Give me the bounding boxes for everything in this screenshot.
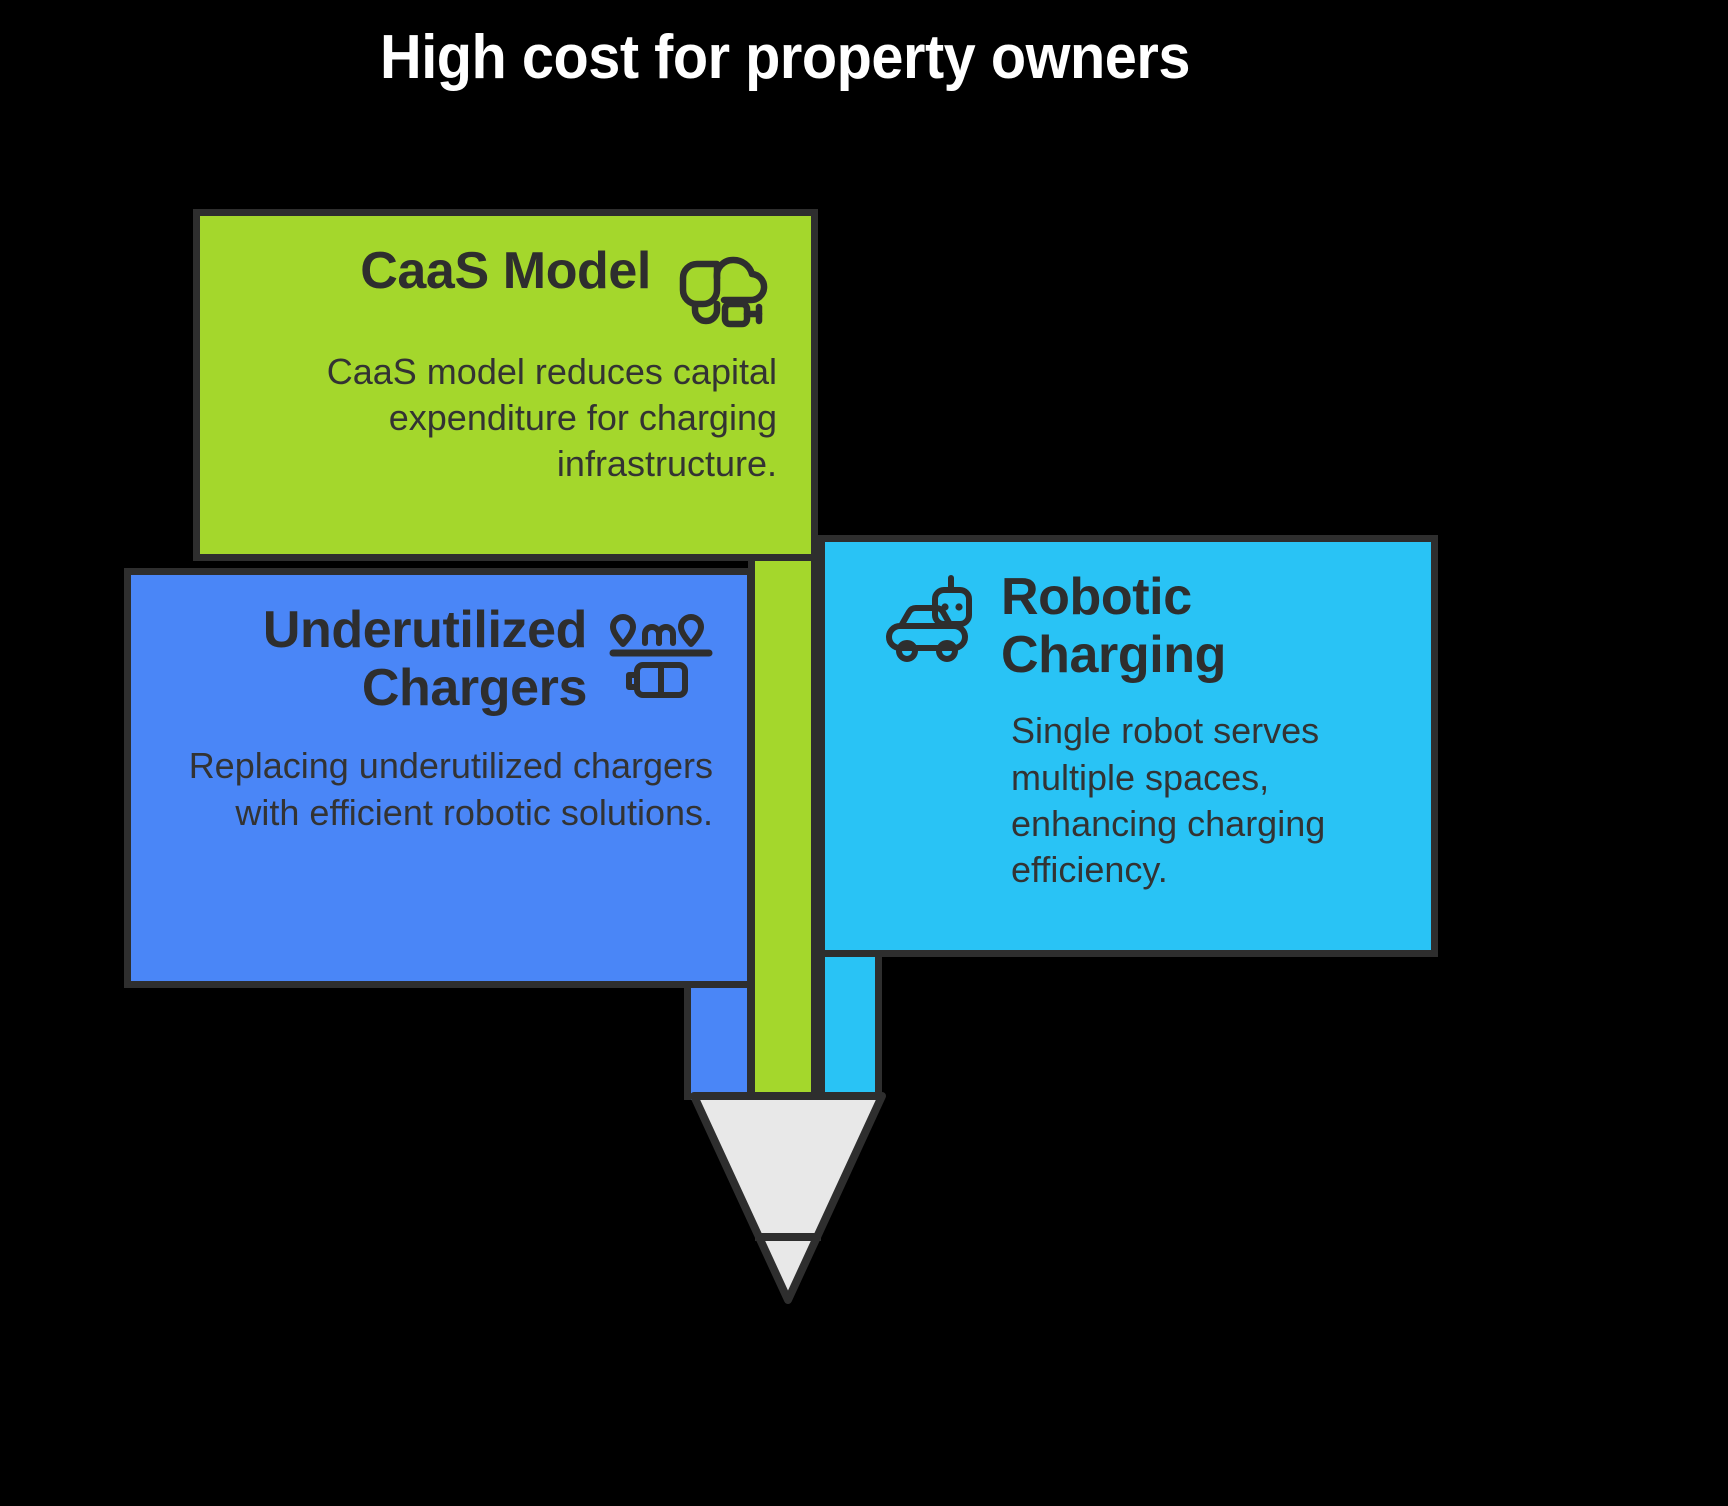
card-header-underutilized-chargers: Underutilized Chargers [165, 601, 713, 717]
card-header-caas-model: CaaS Model [234, 242, 777, 333]
funnel-tip [755, 1232, 821, 1310]
card-robotic-charging[interactable]: Robotic Charging Single robot serves mul… [818, 535, 1438, 957]
stem-underutilized-chargers [684, 975, 754, 1100]
cloud-plug-icon [673, 242, 777, 333]
card-title-caas-model: CaaS Model [360, 242, 651, 300]
robot-car-icon [883, 574, 979, 671]
card-caas-model[interactable]: CaaS Model CaaS model reduces capital ex… [193, 209, 818, 561]
card-underutilized-chargers[interactable]: Underutilized Chargers [124, 568, 754, 988]
stem-caas-model [748, 520, 818, 1100]
parking-charger-icon [609, 609, 713, 706]
card-body-robotic-charging: Single robot serves multiple spaces, enh… [859, 708, 1397, 892]
card-title-underutilized-chargers: Underutilized Chargers [217, 601, 587, 717]
card-body-underutilized-chargers: Replacing underutilized chargers with ef… [165, 743, 713, 835]
stem-robotic-charging [818, 950, 882, 1100]
infographic-canvas: High cost for property owners CaaS Model [0, 0, 1728, 1506]
card-title-robotic-charging: Robotic Charging [1001, 568, 1271, 684]
page-title: High cost for property owners [55, 22, 1515, 93]
card-body-caas-model: CaaS model reduces capital expenditure f… [234, 349, 777, 487]
card-header-robotic-charging: Robotic Charging [859, 568, 1397, 684]
